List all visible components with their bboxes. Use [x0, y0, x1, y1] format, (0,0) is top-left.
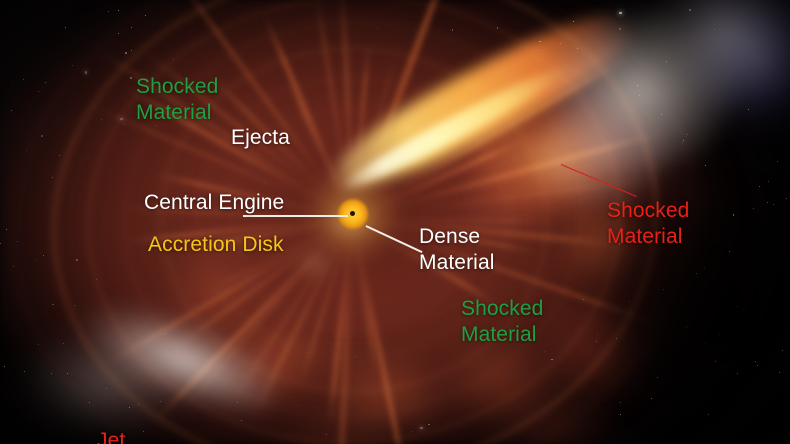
label-shocked-material-upper-left: ShockedMaterial — [136, 74, 218, 125]
star — [13, 266, 14, 267]
star — [11, 110, 12, 111]
label-line-2: Material — [607, 224, 689, 250]
label-shocked-material-right: ShockedMaterial — [607, 198, 689, 249]
star — [72, 65, 73, 66]
star — [65, 27, 66, 28]
dense-clump — [294, 248, 336, 280]
label-line-1: Shocked — [136, 74, 218, 100]
star — [38, 91, 39, 92]
central-engine-core — [350, 211, 355, 216]
label-line-1: Jet — [97, 428, 125, 444]
label-central-engine: Central Engine — [144, 190, 284, 216]
label-line-1: Shocked — [461, 296, 543, 322]
label-line-1: Dense — [419, 224, 495, 250]
label-line-1: Accretion Disk — [148, 232, 284, 258]
star — [23, 79, 24, 80]
label-jet: Jet — [97, 428, 125, 444]
illustration-canvas: ShockedMaterialEjectaCentral EngineAccre… — [0, 0, 790, 444]
label-accretion-disk: Accretion Disk — [148, 232, 284, 258]
star — [118, 10, 119, 11]
label-shocked-material-lower: ShockedMaterial — [461, 296, 543, 347]
star — [108, 11, 110, 13]
star — [0, 243, 1, 244]
star — [6, 229, 7, 230]
label-dense-material: DenseMaterial — [419, 224, 495, 275]
label-line-1: Central Engine — [144, 190, 284, 216]
label-line-1: Shocked — [607, 198, 689, 224]
label-line-2: Material — [136, 100, 218, 126]
star — [26, 150, 27, 151]
label-ejecta: Ejecta — [231, 125, 290, 151]
label-line-1: Ejecta — [231, 125, 290, 151]
blue-nebula-tint — [660, 0, 790, 130]
label-line-2: Material — [461, 322, 543, 348]
label-line-2: Material — [419, 250, 495, 276]
counter-jet-halo — [0, 330, 190, 444]
star — [45, 82, 46, 83]
